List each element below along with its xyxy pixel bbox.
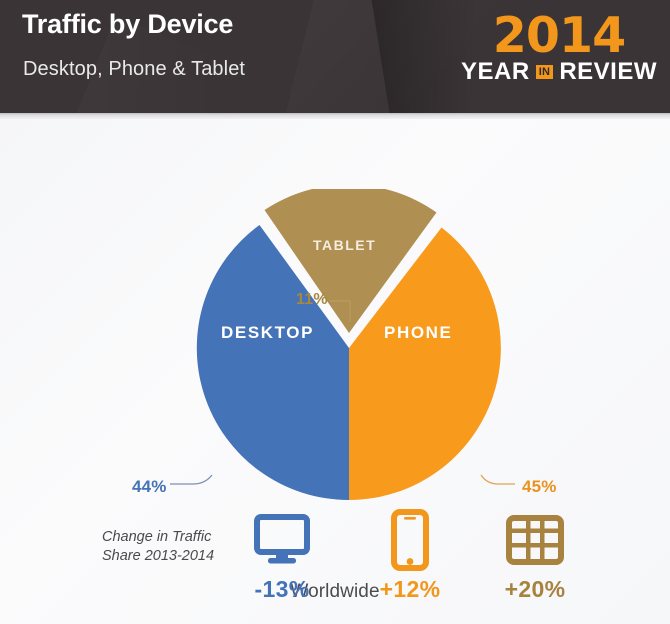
stat-value-tablet: +20% [480,576,590,603]
caption-line-2: Share 2013-2014 [102,547,242,566]
infographic-page: Traffic by Device Desktop, Phone & Table… [0,0,670,624]
logo-word-in: IN [536,65,554,79]
logo-tagline: YEAR IN REVIEW [464,59,654,85]
caption-line-1: Change in Traffic [102,528,242,547]
pie-percent-phone: 45% [522,477,557,497]
smartphone-icon [355,508,465,572]
stat-value-phone: +12% [355,576,465,603]
header-bar: Traffic by Device Desktop, Phone & Table… [0,0,670,113]
monitor-icon [227,508,337,572]
footer-stats: Change in Traffic Share 2013-2014 -13% [0,508,670,624]
logo-word-review: REVIEW [559,59,657,85]
pie-percent-tablet: 11% [296,291,328,309]
tablet-grid-icon [480,508,590,572]
leader-line-phone [481,475,515,484]
page-title: Traffic by Device [22,9,233,40]
stat-value-desktop: -13% [227,576,337,603]
tablet-grid-icon-svg [506,515,564,565]
stat-phone: +12% [355,508,465,603]
monitor-icon-svg [254,514,310,566]
smartphone-icon-svg [391,509,429,571]
stat-tablet: +20% [480,508,590,603]
page-subtitle: Desktop, Phone & Tablet [23,58,245,81]
leader-line-desktop [170,475,212,484]
change-in-traffic-caption: Change in Traffic Share 2013-2014 [102,528,242,566]
year-in-review-logo: 2014 YEAR IN REVIEW [464,10,654,85]
logo-word-year: YEAR [461,59,530,85]
leader-line-tablet [330,301,350,322]
pie-percent-desktop: 44% [132,477,167,497]
stat-desktop: -13% [227,508,337,603]
logo-year-text: 2014 [464,10,654,62]
